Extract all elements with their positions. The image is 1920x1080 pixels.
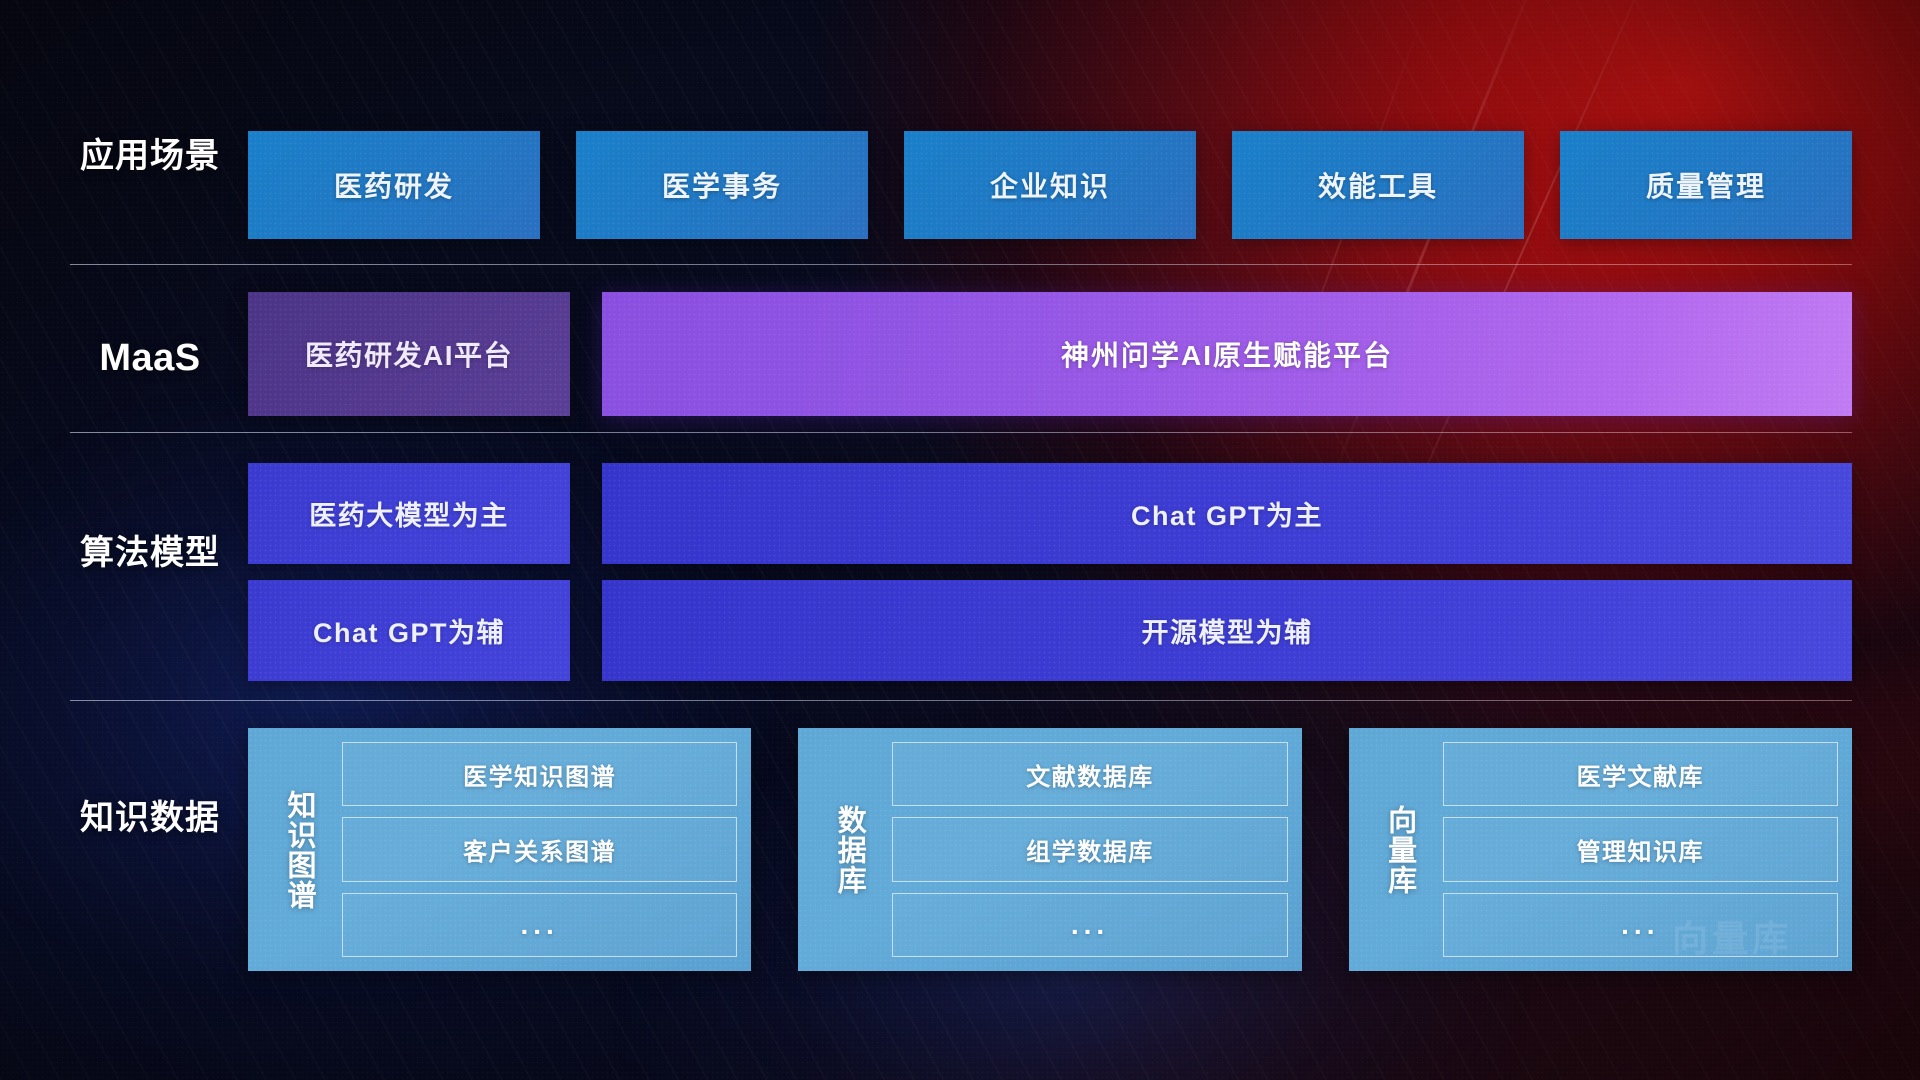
knowledge-item-literature-db[interactable]: 文献数据库 xyxy=(892,742,1287,806)
knowledge-item-medical-kg[interactable]: 医学知识图谱 xyxy=(342,742,737,806)
algo-box-label: Chat GPT为主 xyxy=(1131,494,1323,533)
app-box-label: 质量管理 xyxy=(1646,165,1766,205)
app-box-label: 医学事务 xyxy=(662,165,782,205)
algo-box-label: Chat GPT为辅 xyxy=(313,611,505,650)
algo-box-label: 开源模型为辅 xyxy=(1142,611,1313,650)
maas-box-label: 医药研发AI平台 xyxy=(305,334,513,374)
knowledge-item-label: 组学数据库 xyxy=(1026,832,1154,867)
knowledge-item-label: ... xyxy=(1071,909,1109,941)
divider-maas-algorithms xyxy=(70,432,1852,433)
algorithm-models-row: 医药大模型为主 Chat GPT为主 Chat GPT为辅 开源模型为辅 xyxy=(248,463,1852,681)
maas-box-label: 神州问学AI原生赋能平台 xyxy=(1061,334,1393,374)
app-box-efficiency-tools[interactable]: 效能工具 xyxy=(1232,131,1524,239)
app-box-label: 效能工具 xyxy=(1318,165,1438,205)
algo-box-opensource-secondary[interactable]: 开源模型为辅 xyxy=(602,580,1852,681)
knowledge-item-more[interactable]: ... xyxy=(342,893,737,957)
algorithm-line-primary: 医药大模型为主 Chat GPT为主 xyxy=(248,463,1852,564)
app-box-enterprise-knowledge[interactable]: 企业知识 xyxy=(904,131,1196,239)
knowledge-item-label: 文献数据库 xyxy=(1026,757,1154,792)
app-box-quality-management[interactable]: 质量管理 xyxy=(1560,131,1852,239)
row-label-application-scenarios: 应用场景 xyxy=(70,136,230,176)
algo-box-label: 医药大模型为主 xyxy=(309,494,509,533)
algo-box-chatgpt-secondary[interactable]: Chat GPT为辅 xyxy=(248,580,570,681)
knowledge-item-more[interactable]: ... xyxy=(1443,893,1838,957)
maas-box-medicine-ai-platform[interactable]: 医药研发AI平台 xyxy=(248,292,570,416)
row-label-algorithm-models: 算法模型 xyxy=(70,533,230,573)
knowledge-item-management-knowledge-store[interactable]: 管理知识库 xyxy=(1443,817,1838,881)
app-box-label: 医药研发 xyxy=(334,165,454,205)
maas-box-shenzhou-wenxue-platform[interactable]: 神州问学AI原生赋能平台 xyxy=(602,292,1852,416)
knowledge-item-list: 医学文献库 管理知识库 ... xyxy=(1443,742,1838,957)
app-box-medical-affairs[interactable]: 医学事务 xyxy=(576,131,868,239)
knowledge-item-medical-literature-store[interactable]: 医学文献库 xyxy=(1443,742,1838,806)
algo-box-chatgpt-primary[interactable]: Chat GPT为主 xyxy=(602,463,1852,564)
row-label-maas: MaaS xyxy=(70,336,230,381)
knowledge-item-label: 医学文献库 xyxy=(1577,757,1705,792)
knowledge-data-row: 知识图谱 医学知识图谱 客户关系图谱 ... 数据库 文献数据库 xyxy=(248,728,1852,971)
knowledge-item-omics-db[interactable]: 组学数据库 xyxy=(892,817,1287,881)
application-scenarios-row: 医药研发 医学事务 企业知识 效能工具 质量管理 xyxy=(248,131,1852,239)
knowledge-group-vertical-label: 知识图谱 xyxy=(266,742,330,957)
knowledge-item-list: 文献数据库 组学数据库 ... xyxy=(892,742,1287,957)
algo-box-medicine-llm-primary[interactable]: 医药大模型为主 xyxy=(248,463,570,564)
knowledge-item-label: ... xyxy=(1621,909,1659,941)
knowledge-item-list: 医学知识图谱 客户关系图谱 ... xyxy=(342,742,737,957)
knowledge-item-customer-relation-kg[interactable]: 客户关系图谱 xyxy=(342,817,737,881)
knowledge-group-knowledge-graph: 知识图谱 医学知识图谱 客户关系图谱 ... xyxy=(248,728,751,971)
knowledge-group-vertical-label: 数据库 xyxy=(816,742,880,957)
algorithm-line-secondary: Chat GPT为辅 开源模型为辅 xyxy=(248,580,1852,681)
app-box-medicine-rd[interactable]: 医药研发 xyxy=(248,131,540,239)
knowledge-item-label: 客户关系图谱 xyxy=(463,832,616,867)
row-label-knowledge-data: 知识数据 xyxy=(70,798,230,838)
knowledge-group-database: 数据库 文献数据库 组学数据库 ... xyxy=(798,728,1301,971)
maas-row: 医药研发AI平台 神州问学AI原生赋能平台 xyxy=(248,292,1852,416)
architecture-diagram: 应用场景 医药研发 医学事务 企业知识 效能工具 质量管理 MaaS 医药研发A… xyxy=(0,0,1920,1080)
knowledge-item-label: ... xyxy=(520,909,558,941)
knowledge-group-vertical-label: 向量库 xyxy=(1367,742,1431,957)
app-box-label: 企业知识 xyxy=(990,165,1110,205)
knowledge-item-label: 管理知识库 xyxy=(1577,832,1705,867)
divider-applications-maas xyxy=(70,264,1852,265)
knowledge-item-label: 医学知识图谱 xyxy=(463,757,616,792)
knowledge-group-vector-store: 向量库 医学文献库 管理知识库 ... xyxy=(1349,728,1852,971)
divider-algorithms-knowledge xyxy=(70,700,1852,701)
knowledge-item-more[interactable]: ... xyxy=(892,893,1287,957)
